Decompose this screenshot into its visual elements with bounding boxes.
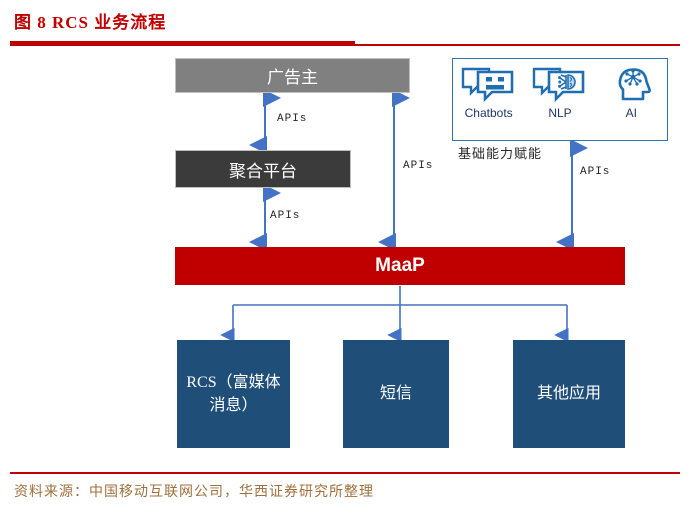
capability-item-nlp-label: NLP <box>548 106 571 120</box>
node-aggregation-platform[interactable]: 聚合平台 <box>175 150 351 188</box>
api-label-capability-maap: APIs <box>580 166 610 178</box>
node-app-rcs[interactable]: RCS（富媒体消息） <box>177 340 290 448</box>
capability-item-ai-label: AI <box>626 106 637 120</box>
page-title: 图 8 RCS 业务流程 <box>14 8 166 33</box>
node-app-other[interactable]: 其他应用 <box>513 340 625 448</box>
node-app-sms[interactable]: 短信 <box>343 340 449 448</box>
capability-item-ai[interactable]: AI <box>597 64 665 120</box>
node-app-other-label: 其他应用 <box>537 382 601 405</box>
capability-item-nlp[interactable]: NLP <box>526 64 594 120</box>
node-advertiser-label: 广告主 <box>267 63 318 88</box>
node-maap[interactable]: MaaP <box>175 247 625 285</box>
api-label-platform-maap: APIs <box>270 210 300 222</box>
node-maap-label: MaaP <box>375 255 425 277</box>
source-note: 资料来源：中国移动互联网公司，华西证券研究所整理 <box>14 481 374 501</box>
capability-panel-caption: 基础能力赋能 <box>458 143 542 162</box>
node-aggregation-platform-label: 聚合平台 <box>229 157 297 182</box>
header-divider-thick <box>10 41 355 46</box>
chat-bubbles-robot-face-icon <box>460 64 518 104</box>
node-app-rcs-label: RCS（富媒体消息） <box>185 371 282 417</box>
head-neural-network-icon <box>602 64 660 104</box>
node-advertiser[interactable]: 广告主 <box>175 58 410 93</box>
capability-item-chatbots-label: Chatbots <box>465 106 513 120</box>
chat-bubbles-brain-icon <box>531 64 589 104</box>
api-label-advertiser-platform: APIs <box>277 113 307 125</box>
arrow-maap-apps <box>233 286 567 335</box>
flow-diagram: 广告主 聚合平台 MaaP RCS（富媒体消息） 短信 其他应用 <box>0 50 690 465</box>
api-label-advertiser-maap: APIs <box>403 160 433 172</box>
figure-page: 图 8 RCS 业务流程 <box>0 0 690 509</box>
capability-panel: Chatbots NLP <box>452 58 668 141</box>
capability-item-chatbots[interactable]: Chatbots <box>455 64 523 120</box>
footer-divider <box>10 472 680 474</box>
node-app-sms-label: 短信 <box>380 382 412 405</box>
